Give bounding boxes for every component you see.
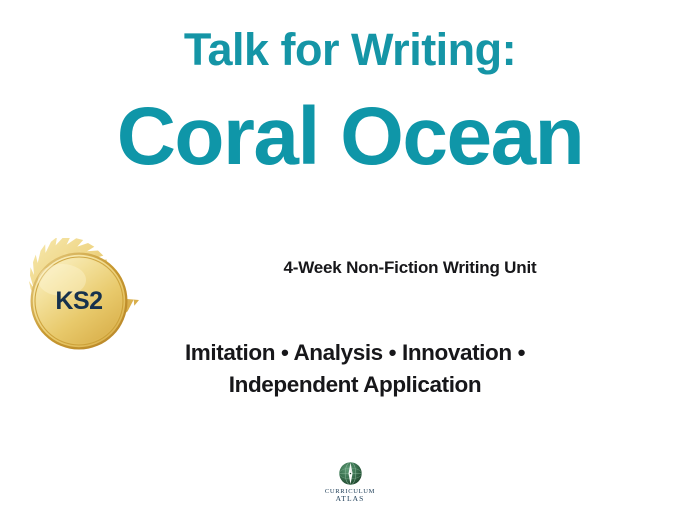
- brand-logo: CURRICULUM ATLAS: [0, 461, 700, 504]
- process-stages: Imitation • Analysis • Innovation • Inde…: [130, 337, 580, 402]
- globe-compass-icon: [338, 461, 363, 486]
- badge-label: KS2: [14, 238, 144, 364]
- title-block: Talk for Writing: Coral Ocean: [0, 26, 700, 182]
- brand-name-line2: ATLAS: [325, 495, 375, 504]
- key-stage-badge: KS2: [14, 238, 144, 364]
- brand-logo-text: CURRICULUM ATLAS: [325, 488, 375, 504]
- title-eyebrow: Talk for Writing:: [0, 26, 700, 75]
- page-title: Coral Ocean: [0, 91, 700, 183]
- slide-canvas: Talk for Writing: Coral Ocean: [0, 0, 700, 525]
- unit-subtitle: 4-Week Non-Fiction Writing Unit: [150, 258, 670, 278]
